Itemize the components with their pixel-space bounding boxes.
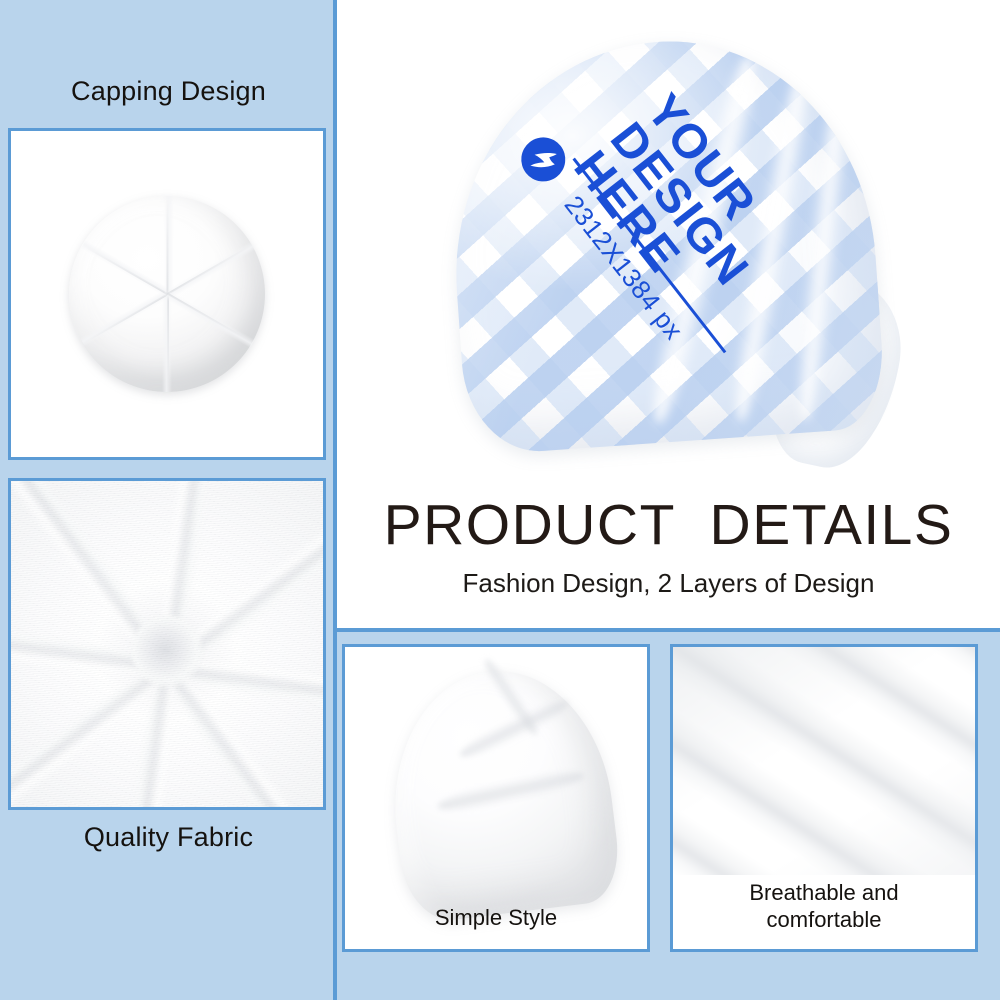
folded-fabric-shading (673, 647, 975, 875)
panel-breathable-comfortable[interactable]: Breathable and comfortable (670, 644, 978, 952)
fabric-swirl-texture (11, 481, 323, 807)
caption-simple-style: Simple Style (345, 905, 647, 931)
product-details-infographic: Capping Design (0, 0, 1000, 1000)
cap-seam (167, 294, 169, 392)
cap-crown-top-view (11, 131, 323, 457)
caption-breathable-comfortable: Breathable and comfortable (673, 880, 975, 933)
cap-seam (167, 196, 169, 294)
beanie-body: YOUR DESIGN HERE 2312X1384 px (441, 28, 888, 456)
page-title: PRODUCT DETAILS (337, 492, 1000, 558)
panel-quality-fabric[interactable] (8, 478, 326, 810)
panel-capping-design[interactable] (8, 128, 326, 460)
bottom-section-divider (337, 628, 1000, 632)
fabric-knit-texture (11, 481, 323, 807)
beanie-mockup-with-design-placeholder: YOUR DESIGN HERE 2312X1384 px (420, 14, 920, 484)
caption-quality-fabric: Quality Fabric (0, 822, 337, 853)
folded-fabric-base (673, 647, 975, 875)
cap-crown-illustration (69, 196, 265, 392)
page-subtitle: Fashion Design, 2 Layers of Design (337, 568, 1000, 599)
folded-fabric-photo (673, 647, 975, 875)
panel-simple-style[interactable]: Simple Style (342, 644, 650, 952)
caption-capping-design: Capping Design (0, 76, 337, 107)
